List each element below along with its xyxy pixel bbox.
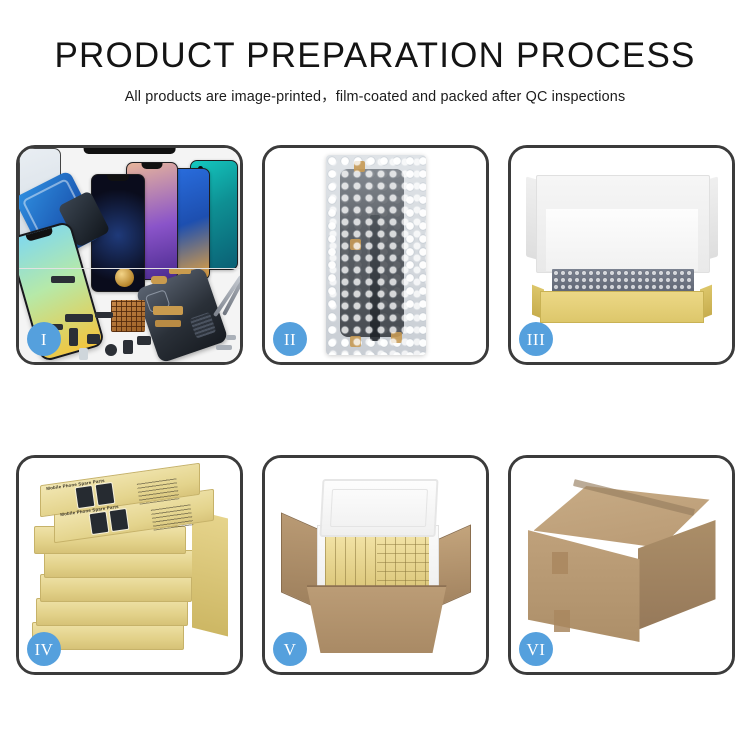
retail-box-layer xyxy=(36,598,188,626)
step-panel-3[interactable]: III xyxy=(508,145,735,365)
bubble-texture-overlay xyxy=(326,155,426,355)
box-foam-sheet xyxy=(546,209,698,271)
header: PRODUCT PREPARATION PROCESS All products… xyxy=(0,0,750,106)
component-chip-icon xyxy=(69,328,78,346)
process-step-grid: I II xyxy=(16,145,736,675)
step-panel-4[interactable]: Mobile Phone Spare Parts Mobile Phone Sp… xyxy=(16,455,243,675)
stacked-retail-boxes: Mobile Phone Spare Parts Mobile Phone Sp… xyxy=(30,470,230,660)
yellow-boxes-inside xyxy=(325,535,429,587)
product-preparation-infographic: PRODUCT PREPARATION PROCESS All products… xyxy=(0,0,750,750)
carton-front-face xyxy=(528,530,640,642)
component-chip-icon xyxy=(151,276,167,284)
foam-box-lid xyxy=(319,479,438,537)
step-panel-5[interactable]: V xyxy=(262,455,489,675)
foam-box-in-carton xyxy=(281,479,471,659)
sealed-carton xyxy=(528,486,716,644)
box-window-icon xyxy=(88,511,109,535)
gold-coil-icon xyxy=(115,268,134,287)
box-window-icon xyxy=(94,482,115,506)
component-screw-icon xyxy=(226,335,236,340)
component-chip-icon xyxy=(169,268,191,274)
step-badge-4: IV xyxy=(27,632,61,666)
carton-tape-patch xyxy=(552,552,568,574)
carton-tape-patch xyxy=(554,610,570,632)
box-spec-text-block xyxy=(150,503,193,530)
box-window-icon xyxy=(108,508,129,532)
open-inner-box xyxy=(526,175,718,335)
box-front-panel xyxy=(540,291,704,323)
step-badge-1: I xyxy=(27,322,61,356)
component-screw-icon xyxy=(216,345,232,350)
component-chip-icon xyxy=(79,348,88,360)
step-panel-2[interactable]: II xyxy=(262,145,489,365)
step-badge-2: II xyxy=(273,322,307,356)
retail-box-layer xyxy=(44,550,196,578)
component-flex-cable-icon xyxy=(155,320,181,327)
box-window-icon xyxy=(74,485,95,509)
component-chip-icon xyxy=(65,314,93,322)
step-badge-6: VI xyxy=(519,632,553,666)
retail-box-side-face xyxy=(192,510,228,637)
component-chip-icon xyxy=(87,334,100,344)
component-chip-icon xyxy=(105,344,117,356)
page-subtitle: All products are image-printed，film-coat… xyxy=(0,75,750,106)
component-chip-icon xyxy=(123,340,133,354)
step-badge-5: V xyxy=(273,632,307,666)
component-chip-icon xyxy=(51,276,75,283)
step-panel-6[interactable]: VI xyxy=(508,455,735,675)
component-chip-icon xyxy=(95,312,113,318)
carton-body xyxy=(307,585,447,653)
page-title: PRODUCT PREPARATION PROCESS xyxy=(0,0,750,75)
step-badge-3: III xyxy=(519,322,553,356)
step-panel-1[interactable]: I xyxy=(16,145,243,365)
component-chip-icon xyxy=(137,336,151,345)
copper-mesh-board-icon xyxy=(111,300,145,332)
bubble-wrap-package xyxy=(326,155,426,355)
retail-box-layer xyxy=(40,574,192,602)
component-flex-cable-icon xyxy=(153,306,183,315)
